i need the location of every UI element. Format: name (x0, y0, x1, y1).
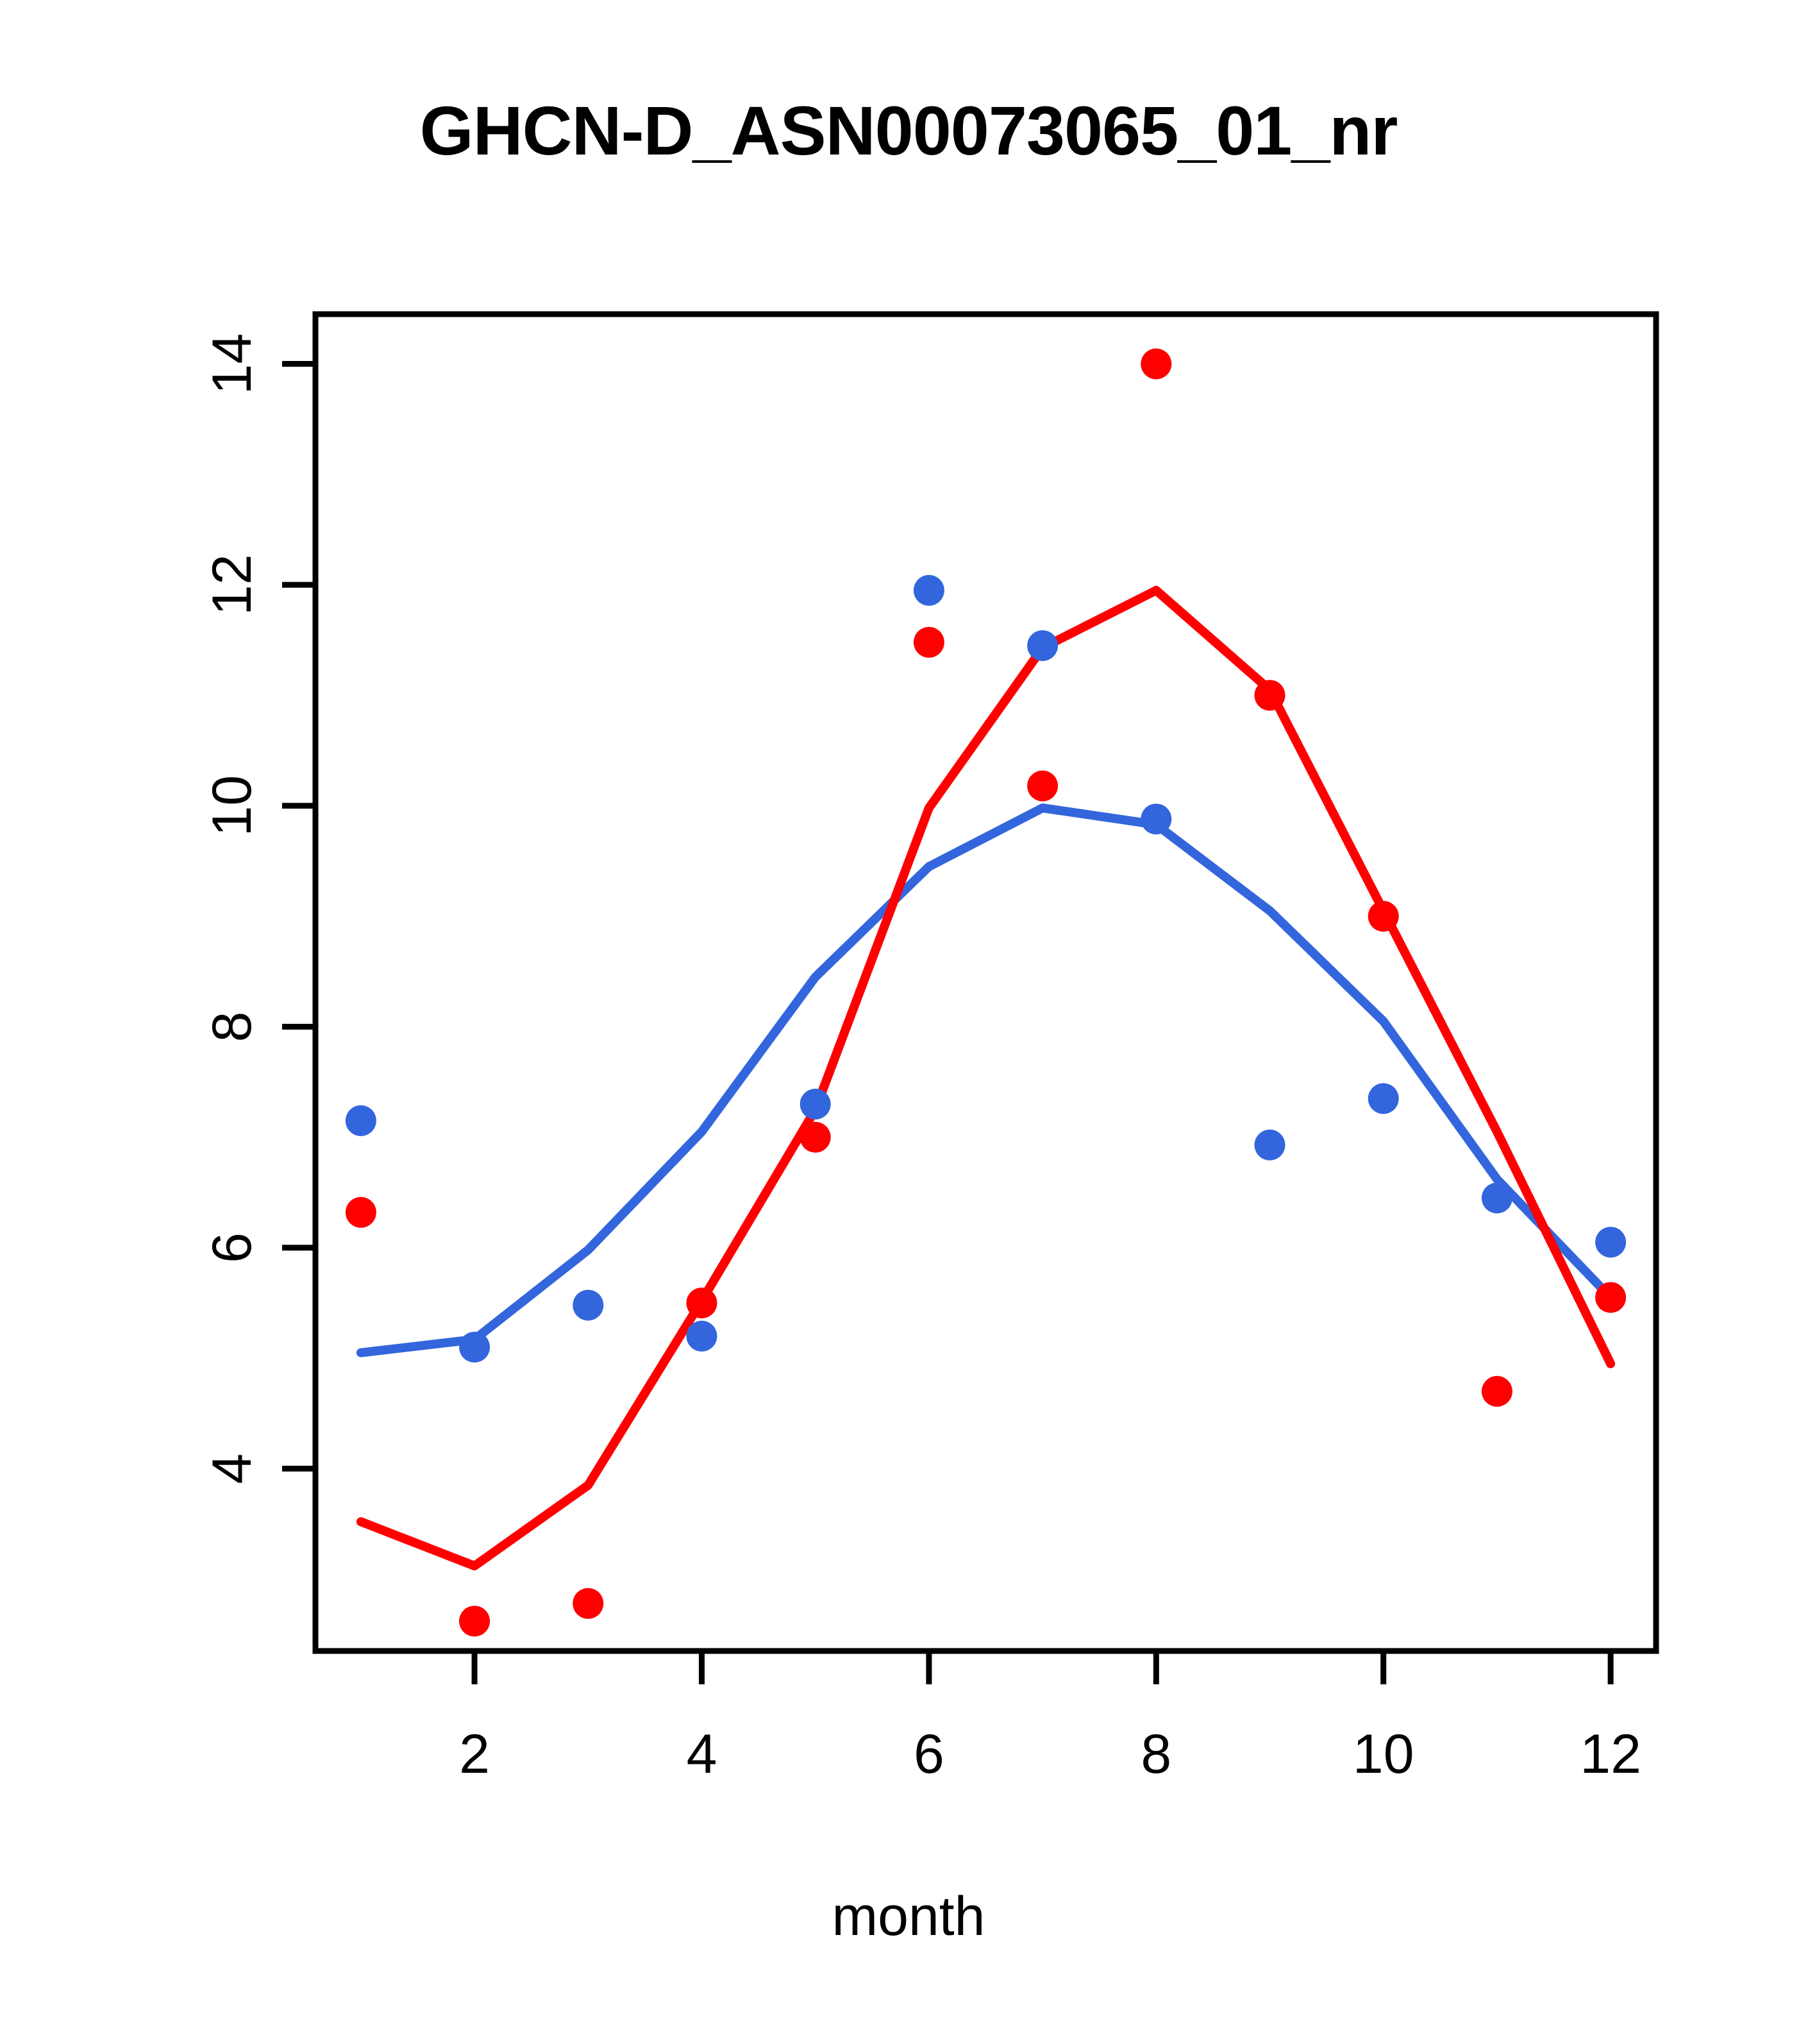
data-point-red-points-11 (1482, 1376, 1512, 1407)
x-tick-label-6: 6 (914, 1723, 944, 1785)
data-point-red-points-2 (459, 1605, 490, 1636)
y-tick-label-12: 12 (201, 554, 263, 616)
series-line-blue-line (361, 808, 1611, 1353)
data-point-blue-points-5 (800, 1089, 831, 1119)
y-tick-label-4: 4 (201, 1453, 263, 1484)
data-point-red-points-12 (1595, 1282, 1626, 1313)
data-point-red-points-8 (1141, 349, 1171, 380)
x-tick-label-10: 10 (1353, 1723, 1414, 1785)
data-point-blue-points-11 (1482, 1183, 1512, 1214)
x-axis-label: month (0, 1885, 1817, 1948)
y-tick-label-14: 14 (201, 333, 263, 395)
x-tick-label-8: 8 (1141, 1723, 1171, 1785)
tick-labels-layer: 24681012468101214 (201, 333, 1641, 1785)
data-point-blue-points-10 (1368, 1083, 1399, 1114)
data-point-red-points-10 (1368, 901, 1399, 932)
y-tick-label-10: 10 (201, 775, 263, 837)
axes-layer (282, 314, 1656, 1684)
y-tick-label-8: 8 (201, 1012, 263, 1043)
series-layer (346, 349, 1626, 1637)
data-point-blue-points-7 (1027, 630, 1058, 661)
data-point-red-points-7 (1027, 771, 1058, 801)
data-point-red-points-5 (800, 1122, 831, 1153)
x-tick-label-4: 4 (687, 1723, 717, 1785)
data-point-red-points-1 (346, 1197, 376, 1228)
data-point-blue-points-12 (1595, 1227, 1626, 1257)
data-point-blue-points-1 (346, 1105, 376, 1136)
data-point-red-points-3 (573, 1588, 603, 1619)
chart-page: GHCN-D_ASN00073065_01_nr 246810124681012… (0, 0, 1817, 2044)
data-point-blue-points-2 (459, 1332, 490, 1362)
data-point-red-points-6 (914, 627, 944, 658)
plot-canvas: 24681012468101214 (0, 0, 1817, 2044)
x-tick-label-12: 12 (1580, 1723, 1641, 1785)
data-point-red-points-9 (1255, 680, 1285, 710)
y-tick-label-6: 6 (201, 1232, 263, 1263)
plot-box (315, 314, 1656, 1651)
data-point-blue-points-6 (914, 575, 944, 606)
data-point-red-points-4 (686, 1287, 717, 1318)
data-point-blue-points-9 (1255, 1130, 1285, 1160)
data-point-blue-points-3 (573, 1290, 603, 1321)
data-point-blue-points-8 (1141, 803, 1171, 834)
x-tick-label-2: 2 (459, 1723, 490, 1785)
data-point-blue-points-4 (686, 1321, 717, 1352)
